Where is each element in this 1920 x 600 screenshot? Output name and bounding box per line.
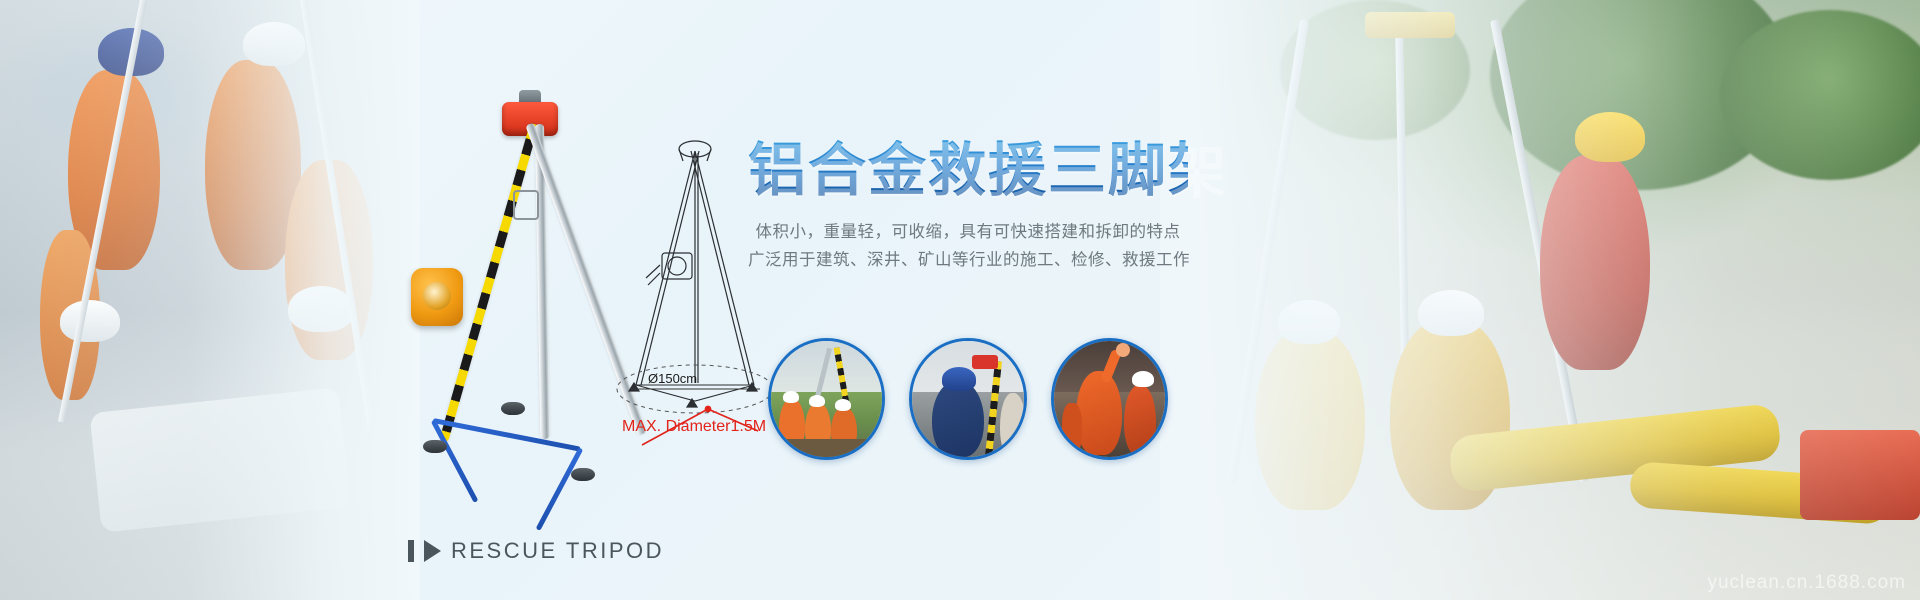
application-gallery (768, 338, 1168, 458)
subtitle-line-2: 广泛用于建筑、深井、矿山等行业的施工、检修、救援工作 (748, 246, 1188, 274)
page-title: 铝合金救援三脚架 (748, 140, 1188, 202)
play-triangle-icon (424, 540, 441, 562)
left-scene-photo (0, 0, 420, 600)
gallery-photo-rescuer-signalling-at-manhole[interactable] (1051, 338, 1168, 460)
right-scene-photo: yuclean.cn.1688.com (1160, 0, 1920, 600)
watermark: yuclean.cn.1688.com (1707, 572, 1906, 594)
subtitle-line-1: 体积小，重量轻，可收缩，具有可快速搭建和拆卸的特点 (748, 218, 1188, 246)
product-banner: yuclean.cn.1688.com (0, 0, 1920, 600)
gallery-photo-rescue-team-field-operation[interactable] (768, 338, 885, 460)
max-diameter-note: MAX. Diameter1.5M (622, 418, 766, 436)
marker-bar-icon (408, 540, 414, 562)
diameter-callout: Ø150cm (648, 371, 697, 386)
rescue-tripod-label: RESCUE TRIPOD (408, 538, 664, 564)
rescue-tripod-text: RESCUE TRIPOD (451, 538, 664, 564)
headline-block: 铝合金救援三脚架 体积小，重量轻，可收缩，具有可快速搭建和拆卸的特点 广泛用于建… (748, 140, 1188, 274)
gallery-photo-worker-inspecting-winch[interactable] (909, 338, 1026, 460)
